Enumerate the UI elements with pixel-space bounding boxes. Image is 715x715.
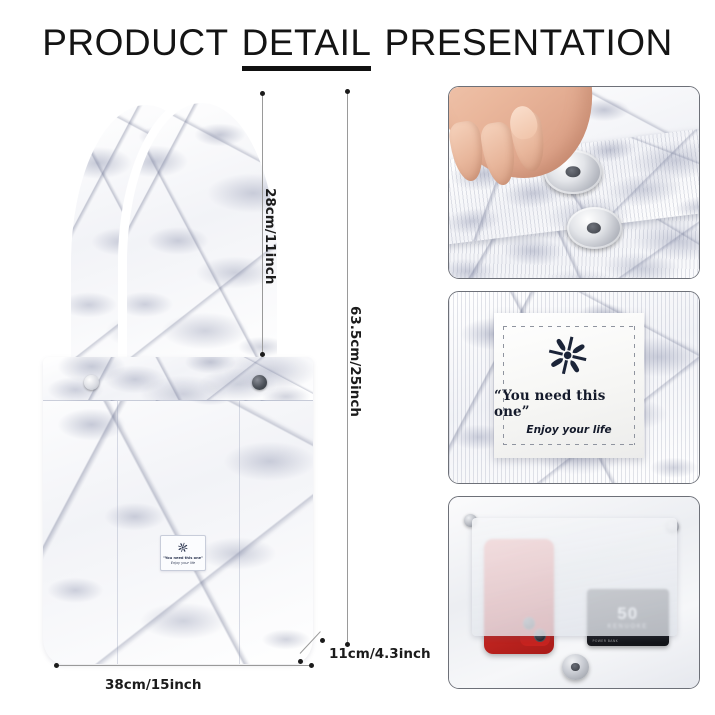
feather-icon: ❈ xyxy=(539,327,599,388)
detail-panel-magnetic-snap[interactable] xyxy=(448,86,700,279)
stitch-left xyxy=(503,326,504,445)
product-detail-presentation: PRODUCT DETAIL PRESENTATION ❈ "You need … xyxy=(0,0,715,715)
feather-icon: ❈ xyxy=(175,540,191,557)
bag-seam-left xyxy=(117,401,118,664)
bag-diagram: ❈ "You need this one" Enjoy your life 28… xyxy=(0,80,440,715)
title-word-product: PRODUCT xyxy=(42,22,228,64)
title-word-detail: DETAIL xyxy=(242,22,372,67)
title-underline xyxy=(242,66,372,71)
dim-dot-depth-high xyxy=(320,638,325,643)
dim-dot-depth-low xyxy=(298,659,303,664)
dim-dot-width-left xyxy=(54,663,59,668)
panel-2-photo: ❈ “You need this one” Enjoy your life xyxy=(449,292,699,483)
bag-snap-right-icon xyxy=(252,375,267,390)
patch-tagline: Enjoy your life xyxy=(171,561,195,565)
dim-dot-strap-top xyxy=(260,91,265,96)
title-word-detail-text: DETAIL xyxy=(242,22,372,63)
title-word-presentation: PRESENTATION xyxy=(384,22,672,64)
label-quote: “You need this one” xyxy=(494,388,644,420)
bag-brand-patch: ❈ "You need this one" Enjoy your life xyxy=(160,535,206,571)
panel-1-photo xyxy=(449,87,699,278)
bag-snap-left-icon xyxy=(84,375,99,390)
dim-label-width: 38cm/15inch xyxy=(105,677,201,693)
powerbank-footnote: POWER BANK xyxy=(593,639,619,643)
woven-brand-label: ❈ “You need this one” Enjoy your life xyxy=(494,313,644,458)
detail-panel-brand-label[interactable]: ❈ “You need this one” Enjoy your life xyxy=(448,291,700,484)
dim-label-strap-drop: 28cm/11inch xyxy=(262,188,278,284)
dim-dot-total-top xyxy=(345,89,350,94)
detail-panel-interior-pocket[interactable]: 50 KENUOKE POWER BANK xyxy=(448,496,700,689)
dim-line-width xyxy=(57,665,312,666)
bag-seam-right xyxy=(239,401,240,664)
dim-dot-strap-bottom xyxy=(260,352,265,357)
mesh-pocket xyxy=(472,518,677,636)
stitch-right xyxy=(634,326,635,445)
label-tagline: Enjoy your life xyxy=(526,424,611,436)
stitch-bottom xyxy=(503,444,635,445)
dim-label-total-height: 63.5cm/25inch xyxy=(347,306,363,417)
bag-body: ❈ "You need this one" Enjoy your life xyxy=(43,357,313,664)
dim-label-depth: 11cm/4.3inch xyxy=(329,646,431,662)
dim-dot-width-right xyxy=(309,663,314,668)
interior-bottom-snap-icon xyxy=(562,654,590,681)
snap-socket-icon xyxy=(567,207,622,249)
page-title: PRODUCT DETAIL PRESENTATION xyxy=(0,22,715,67)
panel-3-photo: 50 KENUOKE POWER BANK xyxy=(449,497,699,688)
